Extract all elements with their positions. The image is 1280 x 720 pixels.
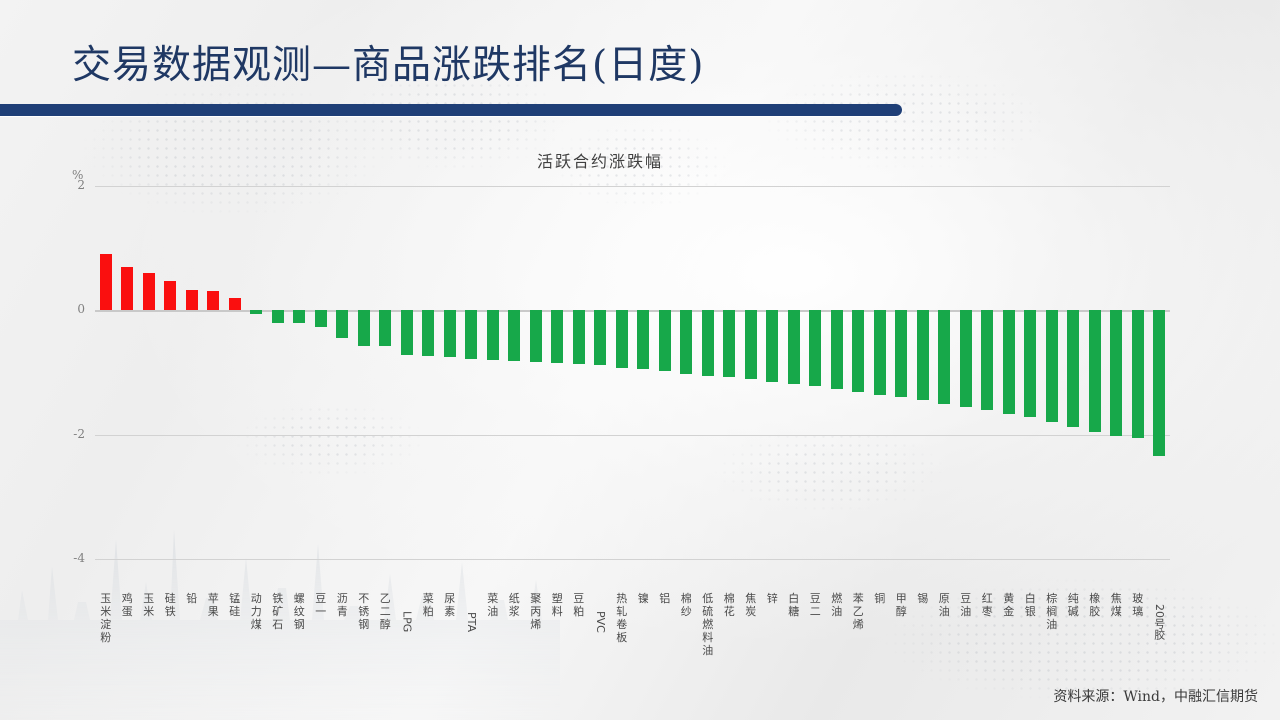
bar-豆油 [960, 310, 972, 406]
bar-棉花 [723, 310, 735, 377]
x-axis-label-甲醇: 甲醇 [895, 592, 908, 618]
gridline [95, 186, 1170, 187]
bar-热轧卷板 [616, 310, 628, 367]
x-axis-label-棕榈油: 棕榈油 [1045, 592, 1058, 631]
bar-聚丙烯 [530, 310, 542, 362]
x-axis-label-铜: 铜 [873, 592, 886, 605]
bar-锡 [917, 310, 929, 400]
x-axis-label-PVC: PVC [594, 592, 607, 652]
bar-铅 [186, 290, 198, 311]
x-axis-label-塑料: 塑料 [551, 592, 564, 618]
x-axis-label-铝: 铝 [658, 592, 671, 605]
bar-棕榈油 [1046, 310, 1058, 422]
page-title: 交易数据观测—商品涨跌排名(日度) [72, 34, 704, 90]
bar-玉米淀粉 [100, 254, 112, 310]
x-axis-label-乙二醇: 乙二醇 [379, 592, 392, 631]
x-axis-label-原油: 原油 [938, 592, 951, 618]
title-underline-bar [0, 104, 902, 116]
x-axis-label-豆油: 豆油 [959, 592, 972, 618]
bar-菜粕 [422, 310, 434, 356]
chart-plot-area: 20-2-4 [95, 186, 1170, 559]
bar-红枣 [981, 310, 993, 409]
source-note: 资料来源：Wind，中融汇信期货 [1053, 686, 1258, 706]
bar-原油 [938, 310, 950, 403]
x-axis-label-螺纹钢: 螺纹钢 [293, 592, 306, 631]
x-axis-labels: 玉米淀粉鸡蛋玉米硅铁铅苹果锰硅动力煤铁矿石螺纹钢豆一沥青不锈钢乙二醇LPG菜粕尿… [95, 592, 1170, 692]
x-axis-label-焦炭: 焦炭 [744, 592, 757, 618]
x-axis-label-橡胶: 橡胶 [1088, 592, 1101, 618]
x-axis-label-鸡蛋: 鸡蛋 [121, 592, 134, 618]
x-axis-label-焦煤: 焦煤 [1110, 592, 1123, 618]
x-axis-label-沥青: 沥青 [336, 592, 349, 618]
x-axis-label-苯乙烯: 苯乙烯 [852, 592, 865, 631]
bar-尿素 [444, 310, 456, 357]
y-axis-tick-label: 0 [45, 302, 85, 316]
x-axis-label-红枣: 红枣 [981, 592, 994, 618]
x-axis-label-玉米: 玉米 [142, 592, 155, 618]
x-axis-label-热轧卷板: 热轧卷板 [615, 592, 628, 644]
bar-纯碱 [1067, 310, 1079, 427]
bar-LPG [401, 310, 413, 355]
x-axis-label-棉纱: 棉纱 [680, 592, 693, 618]
bar-铜 [874, 310, 886, 395]
x-axis-label-动力煤: 动力煤 [250, 592, 263, 631]
bar-塑料 [551, 310, 563, 363]
x-axis-label-纸浆: 纸浆 [508, 592, 521, 618]
bar-甲醇 [895, 310, 907, 397]
x-axis-label-苹果: 苹果 [207, 592, 220, 618]
x-axis-label-聚丙烯: 聚丙烯 [529, 592, 542, 631]
x-axis-label-镍: 镍 [637, 592, 650, 605]
bar-苯乙烯 [852, 310, 864, 391]
bar-纸浆 [508, 310, 520, 360]
x-axis-label-玻璃: 玻璃 [1131, 592, 1144, 618]
bar-鸡蛋 [121, 267, 133, 310]
bar-苹果 [207, 291, 219, 310]
bar-锌 [766, 310, 778, 381]
bar-铁矿石 [272, 310, 284, 322]
bar-橡胶 [1089, 310, 1101, 432]
x-axis-label-棉花: 棉花 [723, 592, 736, 618]
bar-燃油 [831, 310, 843, 388]
bar-黄金 [1003, 310, 1015, 413]
bar-棉纱 [680, 310, 692, 373]
bar-玉米 [143, 273, 155, 310]
x-axis-label-白糖: 白糖 [787, 592, 800, 618]
x-axis-label-豆二: 豆二 [809, 592, 822, 618]
bar-20号胶 [1153, 310, 1165, 456]
x-axis-label-锡: 锡 [916, 592, 929, 605]
bar-动力煤 [250, 310, 262, 314]
x-axis-label-锰硅: 锰硅 [228, 592, 241, 618]
x-axis-label-玉米淀粉: 玉米淀粉 [99, 592, 112, 644]
bar-硅铁 [164, 281, 176, 310]
x-axis-label-低硫燃料油: 低硫燃料油 [701, 592, 714, 657]
x-axis-label-豆一: 豆一 [314, 592, 327, 618]
x-axis-label-菜粕: 菜粕 [422, 592, 435, 618]
bar-PTA [465, 310, 477, 358]
slide: 交易数据观测—商品涨跌排名(日度) 活跃合约涨跌幅 % 20-2-4 玉米淀粉鸡… [0, 0, 1280, 720]
bar-低硫燃料油 [702, 310, 714, 375]
x-axis-label-黄金: 黄金 [1002, 592, 1015, 618]
bar-白银 [1024, 310, 1036, 417]
x-axis-label-尿素: 尿素 [443, 592, 456, 618]
x-axis-label-锌: 锌 [766, 592, 779, 605]
x-axis-label-铁矿石: 铁矿石 [271, 592, 284, 631]
x-axis-label-燃油: 燃油 [830, 592, 843, 618]
x-axis-label-白银: 白银 [1024, 592, 1037, 618]
bar-不锈钢 [358, 310, 370, 345]
bar-PVC [594, 310, 606, 365]
bar-菜油 [487, 310, 499, 360]
bar-豆粕 [573, 310, 585, 363]
bar-豆一 [315, 310, 327, 327]
bar-焦煤 [1110, 310, 1122, 436]
x-axis-label-PTA: PTA [465, 592, 478, 652]
x-axis-label-菜油: 菜油 [486, 592, 499, 618]
bar-乙二醇 [379, 310, 391, 346]
bar-螺纹钢 [293, 310, 305, 323]
bar-锰硅 [229, 298, 241, 310]
y-axis-tick-label: -4 [45, 551, 85, 565]
chart-title: 活跃合约涨跌幅 [0, 148, 1280, 172]
chart-title-text: 活跃合约涨跌幅 [537, 148, 663, 172]
bar-玻璃 [1132, 310, 1144, 438]
x-axis-label-LPG: LPG [400, 592, 413, 652]
x-axis-label-20号胶: 20号胶 [1153, 592, 1166, 652]
x-axis-label-硅铁: 硅铁 [164, 592, 177, 618]
y-axis-tick-label: 2 [45, 178, 85, 192]
x-axis-label-铅: 铅 [185, 592, 198, 605]
bar-豆二 [809, 310, 821, 386]
x-axis-label-豆粕: 豆粕 [572, 592, 585, 618]
gridline [95, 559, 1170, 560]
bar-铝 [659, 310, 671, 371]
x-axis-label-不锈钢: 不锈钢 [357, 592, 370, 631]
x-axis-label-纯碱: 纯碱 [1067, 592, 1080, 618]
bar-镍 [637, 310, 649, 369]
bar-白糖 [788, 310, 800, 384]
bar-焦炭 [745, 310, 757, 379]
gridline [95, 435, 1170, 436]
bar-沥青 [336, 310, 348, 337]
y-axis-tick-label: -2 [45, 427, 85, 441]
